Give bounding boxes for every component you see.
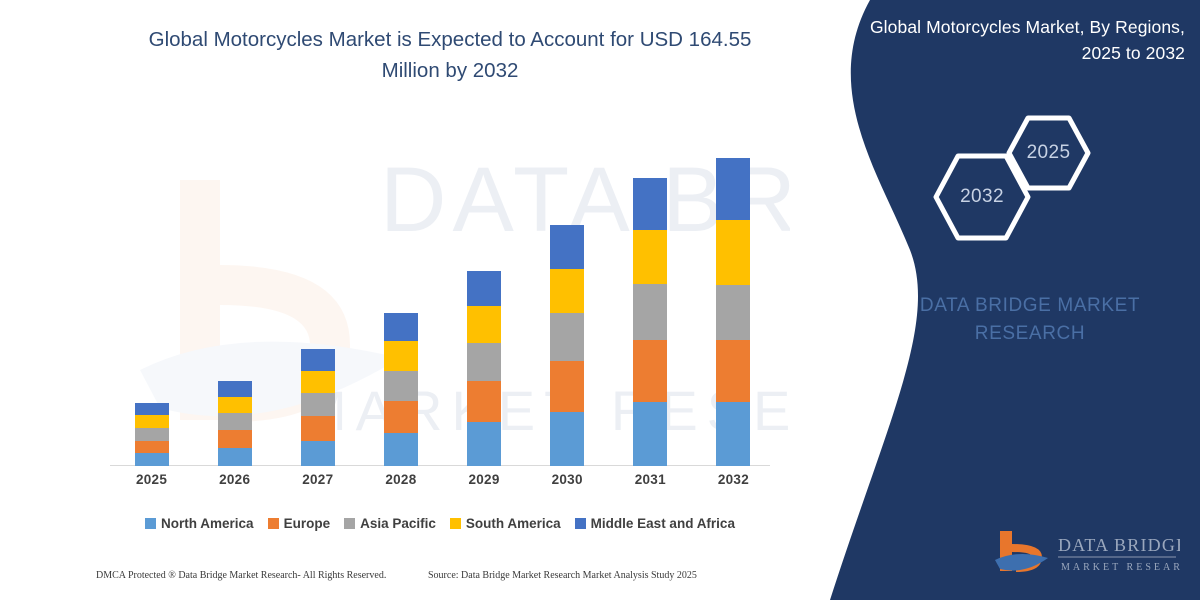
- legend-label-north-america: North America: [161, 516, 254, 531]
- bar-segment-2026-south-america: [218, 397, 252, 414]
- bar-segment-2025-europe: [135, 441, 169, 454]
- legend-item-middle-east-and-africa[interactable]: Middle East and Africa: [575, 516, 735, 531]
- bar-segment-2027-north-america: [301, 441, 335, 466]
- data-bridge-logo: DATA BRIDGE MARKET RESEARCH: [990, 527, 1180, 579]
- chart-title: Global Motorcycles Market is Expected to…: [120, 24, 780, 86]
- x-axis-label-2032: 2032: [703, 472, 763, 487]
- bar-segment-2030-north-america: [550, 412, 584, 466]
- x-axis-label-2025: 2025: [122, 472, 182, 487]
- hexagon-badge-2025: 2025: [1006, 115, 1091, 191]
- bar-segment-2028-north-america: [384, 433, 418, 466]
- bar-segment-2027-asia-pacific: [301, 393, 335, 416]
- bar-2026: [218, 381, 252, 466]
- hexagon-badge-2025-label: 2025: [1006, 115, 1091, 191]
- legend-item-europe[interactable]: Europe: [268, 516, 331, 531]
- bar-segment-2031-asia-pacific: [633, 284, 667, 340]
- bar-2032: [716, 158, 750, 466]
- x-axis-label-2031: 2031: [620, 472, 680, 487]
- x-axis-label-2029: 2029: [454, 472, 514, 487]
- bar-segment-2029-north-america: [467, 422, 501, 466]
- stacked-bar-chart: [110, 140, 775, 466]
- legend-item-south-america[interactable]: South America: [450, 516, 561, 531]
- x-axis-labels: 20252026202720282029203020312032: [110, 472, 775, 498]
- bar-segment-2031-europe: [633, 340, 667, 401]
- legend-label-middle-east-and-africa: Middle East and Africa: [591, 516, 735, 531]
- bar-segment-2029-asia-pacific: [467, 343, 501, 381]
- bar-segment-2029-middle-east-and-africa: [467, 271, 501, 306]
- bar-segment-2028-europe: [384, 401, 418, 433]
- bar-segment-2031-middle-east-and-africa: [633, 178, 667, 230]
- logo-text-bottom: MARKET RESEARCH: [1061, 562, 1180, 573]
- legend-swatch-europe: [268, 518, 279, 529]
- bar-2031: [633, 178, 667, 466]
- bar-segment-2030-middle-east-and-africa: [550, 225, 584, 269]
- bar-2030: [550, 225, 584, 466]
- bar-2029: [467, 271, 501, 466]
- bar-segment-2027-south-america: [301, 371, 335, 393]
- bar-segment-2032-north-america: [716, 402, 750, 466]
- footer-source: Source: Data Bridge Market Research Mark…: [428, 570, 697, 581]
- logo-text-top: DATA BRIDGE: [1058, 535, 1180, 555]
- panel-brand-text: DATA BRIDGE MARKET RESEARCH: [880, 292, 1180, 348]
- bar-2028: [384, 313, 418, 466]
- panel-title: Global Motorcycles Market, By Regions, 2…: [855, 14, 1185, 66]
- x-axis-label-2028: 2028: [371, 472, 431, 487]
- bar-segment-2029-europe: [467, 381, 501, 422]
- bar-2027: [301, 349, 335, 466]
- bar-segment-2032-middle-east-and-africa: [716, 158, 750, 220]
- bar-segment-2030-asia-pacific: [550, 313, 584, 361]
- legend-swatch-asia-pacific: [344, 518, 355, 529]
- bar-segment-2031-south-america: [633, 230, 667, 284]
- bar-segment-2031-north-america: [633, 402, 667, 466]
- bar-segment-2025-south-america: [135, 415, 169, 428]
- bar-segment-2027-middle-east-and-africa: [301, 349, 335, 370]
- infographic-root: DATA BRIDGE MARKET RESEARCH Global Motor…: [0, 0, 1200, 600]
- logo-mark-icon: [995, 531, 1048, 572]
- bar-segment-2030-europe: [550, 361, 584, 413]
- legend-item-asia-pacific[interactable]: Asia Pacific: [344, 516, 436, 531]
- panel-brand-line-2: RESEARCH: [880, 320, 1180, 348]
- legend-swatch-north-america: [145, 518, 156, 529]
- bar-segment-2026-north-america: [218, 448, 252, 466]
- bar-segment-2032-asia-pacific: [716, 285, 750, 339]
- legend-item-north-america[interactable]: North America: [145, 516, 254, 531]
- bar-segment-2026-asia-pacific: [218, 413, 252, 430]
- bar-segment-2026-middle-east-and-africa: [218, 381, 252, 397]
- panel-brand-line-1: DATA BRIDGE MARKET: [880, 292, 1180, 320]
- bar-2025: [135, 403, 169, 466]
- bar-segment-2028-asia-pacific: [384, 371, 418, 401]
- legend-label-europe: Europe: [284, 516, 331, 531]
- legend-label-south-america: South America: [466, 516, 561, 531]
- bar-segment-2025-north-america: [135, 453, 169, 466]
- footer-copyright: DMCA Protected ® Data Bridge Market Rese…: [96, 570, 386, 581]
- bar-segment-2030-south-america: [550, 269, 584, 314]
- bar-segment-2028-middle-east-and-africa: [384, 313, 418, 341]
- bar-segment-2029-south-america: [467, 306, 501, 343]
- x-axis-label-2026: 2026: [205, 472, 265, 487]
- legend-label-asia-pacific: Asia Pacific: [360, 516, 436, 531]
- bar-segment-2032-europe: [716, 340, 750, 402]
- legend-swatch-middle-east-and-africa: [575, 518, 586, 529]
- chart-legend: North AmericaEuropeAsia PacificSouth Ame…: [110, 512, 770, 534]
- legend-swatch-south-america: [450, 518, 461, 529]
- bar-segment-2032-south-america: [716, 220, 750, 285]
- x-axis-label-2030: 2030: [537, 472, 597, 487]
- bar-segment-2025-asia-pacific: [135, 428, 169, 441]
- bar-segment-2028-south-america: [384, 341, 418, 370]
- bar-segment-2027-europe: [301, 416, 335, 440]
- x-axis-label-2027: 2027: [288, 472, 348, 487]
- bar-segment-2025-middle-east-and-africa: [135, 403, 169, 416]
- bar-segment-2026-europe: [218, 430, 252, 448]
